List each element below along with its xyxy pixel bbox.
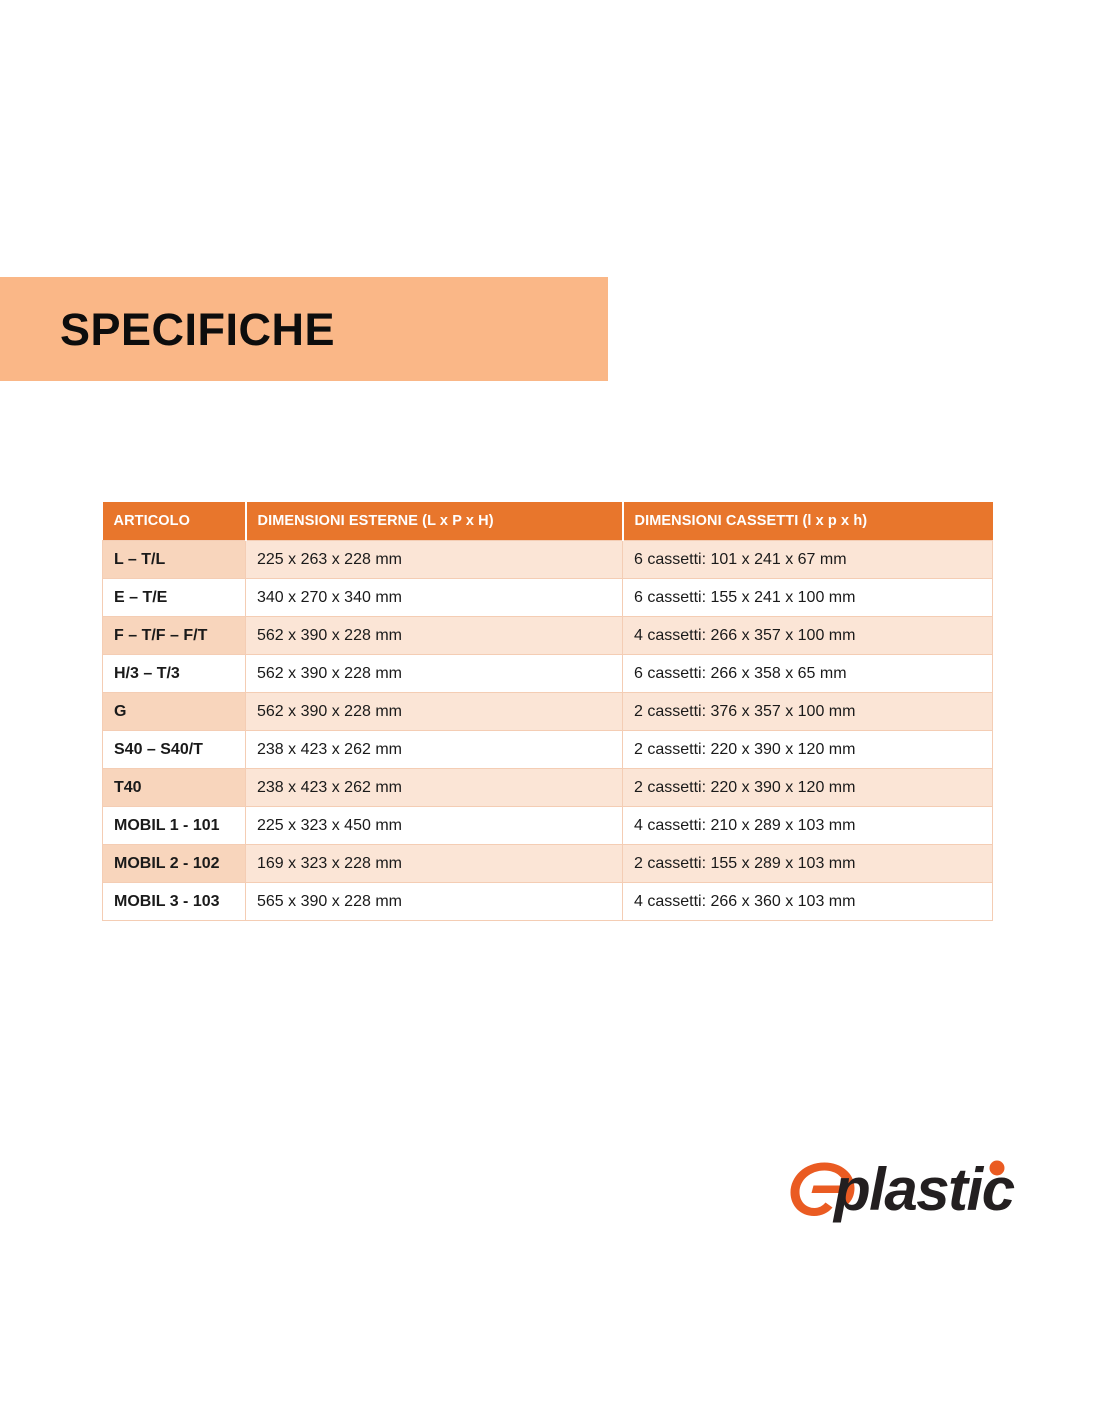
specifiche-banner: SPECIFICHE: [0, 277, 608, 381]
cell-dimensioni-cassetti: 4 cassetti: 266 x 360 x 103 mm: [623, 883, 993, 921]
cell-articolo: E – T/E: [103, 579, 246, 617]
table-row: MOBIL 1 - 101225 x 323 x 450 mm4 cassett…: [103, 807, 993, 845]
logo-wordmark: plastic: [832, 1156, 1015, 1223]
cell-dimensioni-esterne: 225 x 263 x 228 mm: [246, 541, 623, 579]
specifications-table-container: ARTICOLO DIMENSIONI ESTERNE (L x P x H) …: [102, 502, 992, 921]
column-header-dimensioni-esterne: DIMENSIONI ESTERNE (L x P x H): [246, 502, 623, 541]
cell-dimensioni-cassetti: 4 cassetti: 266 x 357 x 100 mm: [623, 617, 993, 655]
cell-articolo: S40 – S40/T: [103, 731, 246, 769]
cell-dimensioni-cassetti: 2 cassetti: 220 x 390 x 120 mm: [623, 731, 993, 769]
table-row: S40 – S40/T238 x 423 x 262 mm2 cassetti:…: [103, 731, 993, 769]
cell-articolo: F – T/F – F/T: [103, 617, 246, 655]
cell-dimensioni-esterne: 562 x 390 x 228 mm: [246, 693, 623, 731]
cell-dimensioni-esterne: 562 x 390 x 228 mm: [246, 655, 623, 693]
cell-articolo: G: [103, 693, 246, 731]
cell-articolo: MOBIL 1 - 101: [103, 807, 246, 845]
table-body: L – T/L225 x 263 x 228 mm6 cassetti: 101…: [103, 541, 993, 921]
logo-i-dot-icon: [990, 1161, 1005, 1176]
cell-articolo: T40: [103, 769, 246, 807]
cell-dimensioni-esterne: 340 x 270 x 340 mm: [246, 579, 623, 617]
table-row: L – T/L225 x 263 x 228 mm6 cassetti: 101…: [103, 541, 993, 579]
table-row: G562 x 390 x 228 mm2 cassetti: 376 x 357…: [103, 693, 993, 731]
cell-dimensioni-esterne: 565 x 390 x 228 mm: [246, 883, 623, 921]
column-header-articolo: ARTICOLO: [103, 502, 246, 541]
cell-dimensioni-cassetti: 4 cassetti: 210 x 289 x 103 mm: [623, 807, 993, 845]
cell-dimensioni-esterne: 238 x 423 x 262 mm: [246, 769, 623, 807]
table-row: MOBIL 3 - 103565 x 390 x 228 mm4 cassett…: [103, 883, 993, 921]
cell-dimensioni-cassetti: 6 cassetti: 101 x 241 x 67 mm: [623, 541, 993, 579]
page-title: SPECIFICHE: [60, 307, 335, 352]
cell-dimensioni-esterne: 238 x 423 x 262 mm: [246, 731, 623, 769]
table-header-row: ARTICOLO DIMENSIONI ESTERNE (L x P x H) …: [103, 502, 993, 541]
eplastic-logo: plastic: [788, 1152, 1036, 1228]
cell-dimensioni-esterne: 225 x 323 x 450 mm: [246, 807, 623, 845]
cell-dimensioni-cassetti: 2 cassetti: 220 x 390 x 120 mm: [623, 769, 993, 807]
table-row: MOBIL 2 - 102169 x 323 x 228 mm2 cassett…: [103, 845, 993, 883]
column-header-dimensioni-cassetti: DIMENSIONI CASSETTI (l x p x h): [623, 502, 993, 541]
cell-articolo: L – T/L: [103, 541, 246, 579]
cell-dimensioni-esterne: 562 x 390 x 228 mm: [246, 617, 623, 655]
specifications-table: ARTICOLO DIMENSIONI ESTERNE (L x P x H) …: [102, 502, 993, 921]
cell-dimensioni-cassetti: 2 cassetti: 376 x 357 x 100 mm: [623, 693, 993, 731]
cell-dimensioni-cassetti: 2 cassetti: 155 x 289 x 103 mm: [623, 845, 993, 883]
table-row: E – T/E340 x 270 x 340 mm6 cassetti: 155…: [103, 579, 993, 617]
table-row: F – T/F – F/T562 x 390 x 228 mm4 cassett…: [103, 617, 993, 655]
cell-dimensioni-esterne: 169 x 323 x 228 mm: [246, 845, 623, 883]
cell-dimensioni-cassetti: 6 cassetti: 266 x 358 x 65 mm: [623, 655, 993, 693]
cell-dimensioni-cassetti: 6 cassetti: 155 x 241 x 100 mm: [623, 579, 993, 617]
table-row: H/3 – T/3562 x 390 x 228 mm6 cassetti: 2…: [103, 655, 993, 693]
cell-articolo: H/3 – T/3: [103, 655, 246, 693]
cell-articolo: MOBIL 2 - 102: [103, 845, 246, 883]
table-header: ARTICOLO DIMENSIONI ESTERNE (L x P x H) …: [103, 502, 993, 541]
eplastic-logo-svg: plastic: [788, 1152, 1036, 1228]
cell-articolo: MOBIL 3 - 103: [103, 883, 246, 921]
table-row: T40238 x 423 x 262 mm2 cassetti: 220 x 3…: [103, 769, 993, 807]
